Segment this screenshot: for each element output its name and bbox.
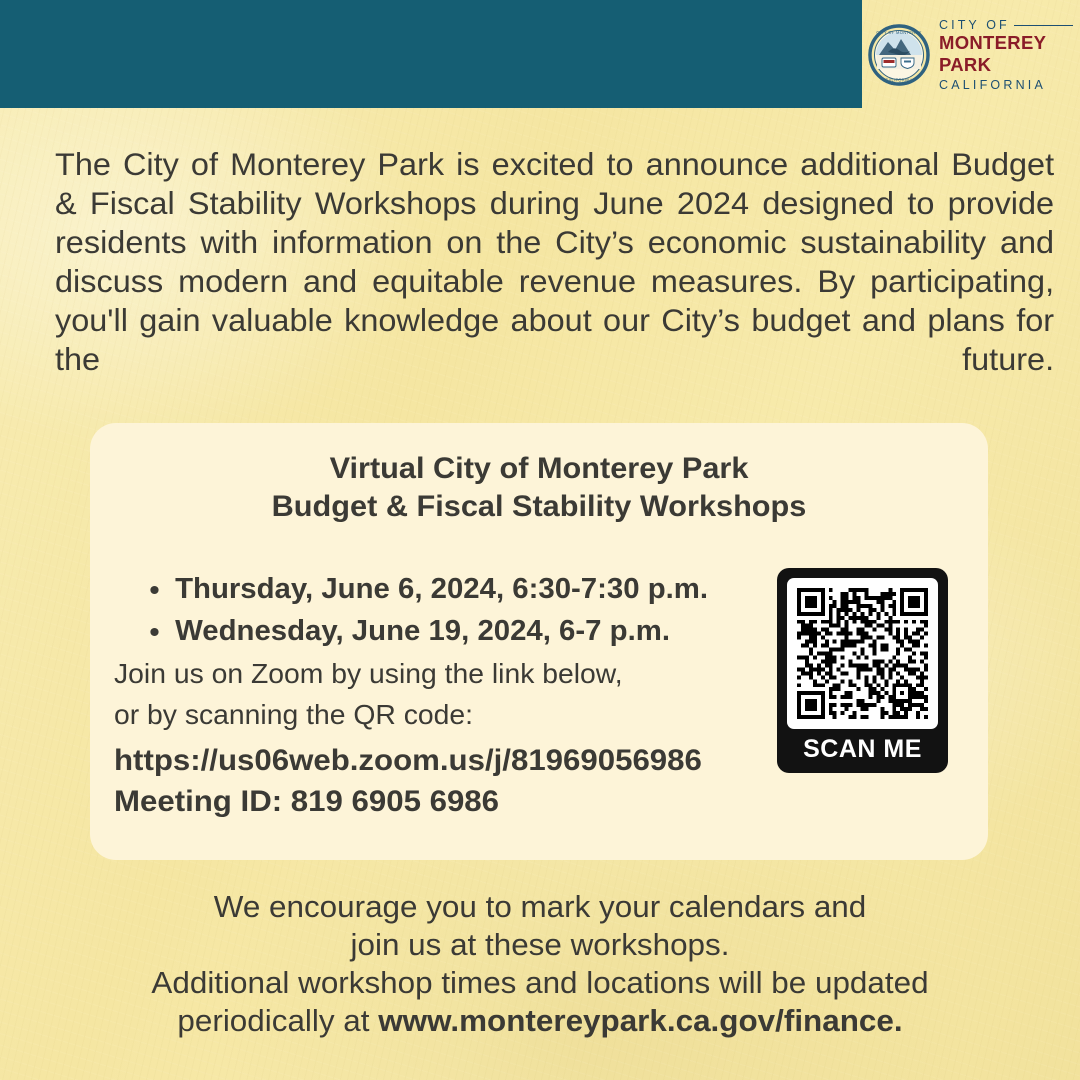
zoom-instructions: Join us on Zoom by using the link below,… (114, 653, 773, 735)
zoom-instructions-line-2: or by scanning the QR code: (114, 699, 473, 730)
footer-line-4: periodically at www.montereypark.ca.gov/… (40, 1002, 1039, 1040)
footer-line-1: We encourage you to mark your calendars … (40, 888, 1039, 926)
qr-scan-me-label: SCAN ME (803, 729, 922, 769)
card-title: Virtual City of Monterey Park Budget & F… (72, 450, 1006, 526)
zoom-meeting-id: Meeting ID: 819 6905 6986 (114, 781, 842, 822)
logo-city-of-label: CITY OF (939, 18, 1010, 32)
qr-code-badge[interactable]: SCAN ME (777, 568, 948, 773)
logo-wordmark: CITY OF MONTEREY PARK CALIFORNIA (939, 16, 1073, 94)
intro-paragraph: The City of Monterey Park is excited to … (55, 145, 1054, 418)
footer-line-2: join us at these workshops. (40, 926, 1039, 964)
logo-city-of-row: CITY OF (939, 18, 1073, 32)
footer-note: We encourage you to mark your calendars … (40, 888, 1039, 1040)
card-title-line-1: Virtual City of Monterey Park (330, 452, 749, 485)
svg-text:CALIFORNIA: CALIFORNIA (885, 78, 913, 83)
session-list: Thursday, June 6, 2024, 6:30-7:30 p.m. W… (138, 568, 738, 652)
zoom-link-block: https://us06web.zoom.us/j/81969056986 Me… (114, 740, 842, 822)
header-band (0, 0, 862, 108)
zoom-instructions-line-1: Join us on Zoom by using the link below, (114, 658, 623, 689)
finance-website-link[interactable]: www.montereypark.ca.gov/finance. (378, 1004, 902, 1038)
logo-city-name: MONTEREY PARK (939, 32, 1046, 75)
qr-code-icon (787, 578, 938, 729)
logo-divider-rule (1014, 25, 1073, 26)
footer-line-3: Additional workshop times and locations … (40, 964, 1039, 1002)
card-title-line-2: Budget & Fiscal Stability Workshops (272, 490, 807, 523)
qr-code-canvas (797, 588, 928, 719)
city-seal-icon: CITY OF MONTEREY CALIFORNIA (868, 24, 930, 86)
list-item: Wednesday, June 19, 2024, 6-7 p.m. (138, 610, 756, 652)
list-item: Thursday, June 6, 2024, 6:30-7:30 p.m. (138, 568, 756, 610)
svg-text:CITY OF MONTEREY: CITY OF MONTEREY (876, 30, 921, 35)
city-logo: CITY OF MONTEREY CALIFORNIA CITY OF MONT… (868, 18, 1073, 92)
footer-line-4-prefix: periodically at (177, 1004, 378, 1038)
logo-state-label: CALIFORNIA (939, 78, 1046, 92)
zoom-meeting-link[interactable]: https://us06web.zoom.us/j/81969056986 (114, 740, 842, 781)
